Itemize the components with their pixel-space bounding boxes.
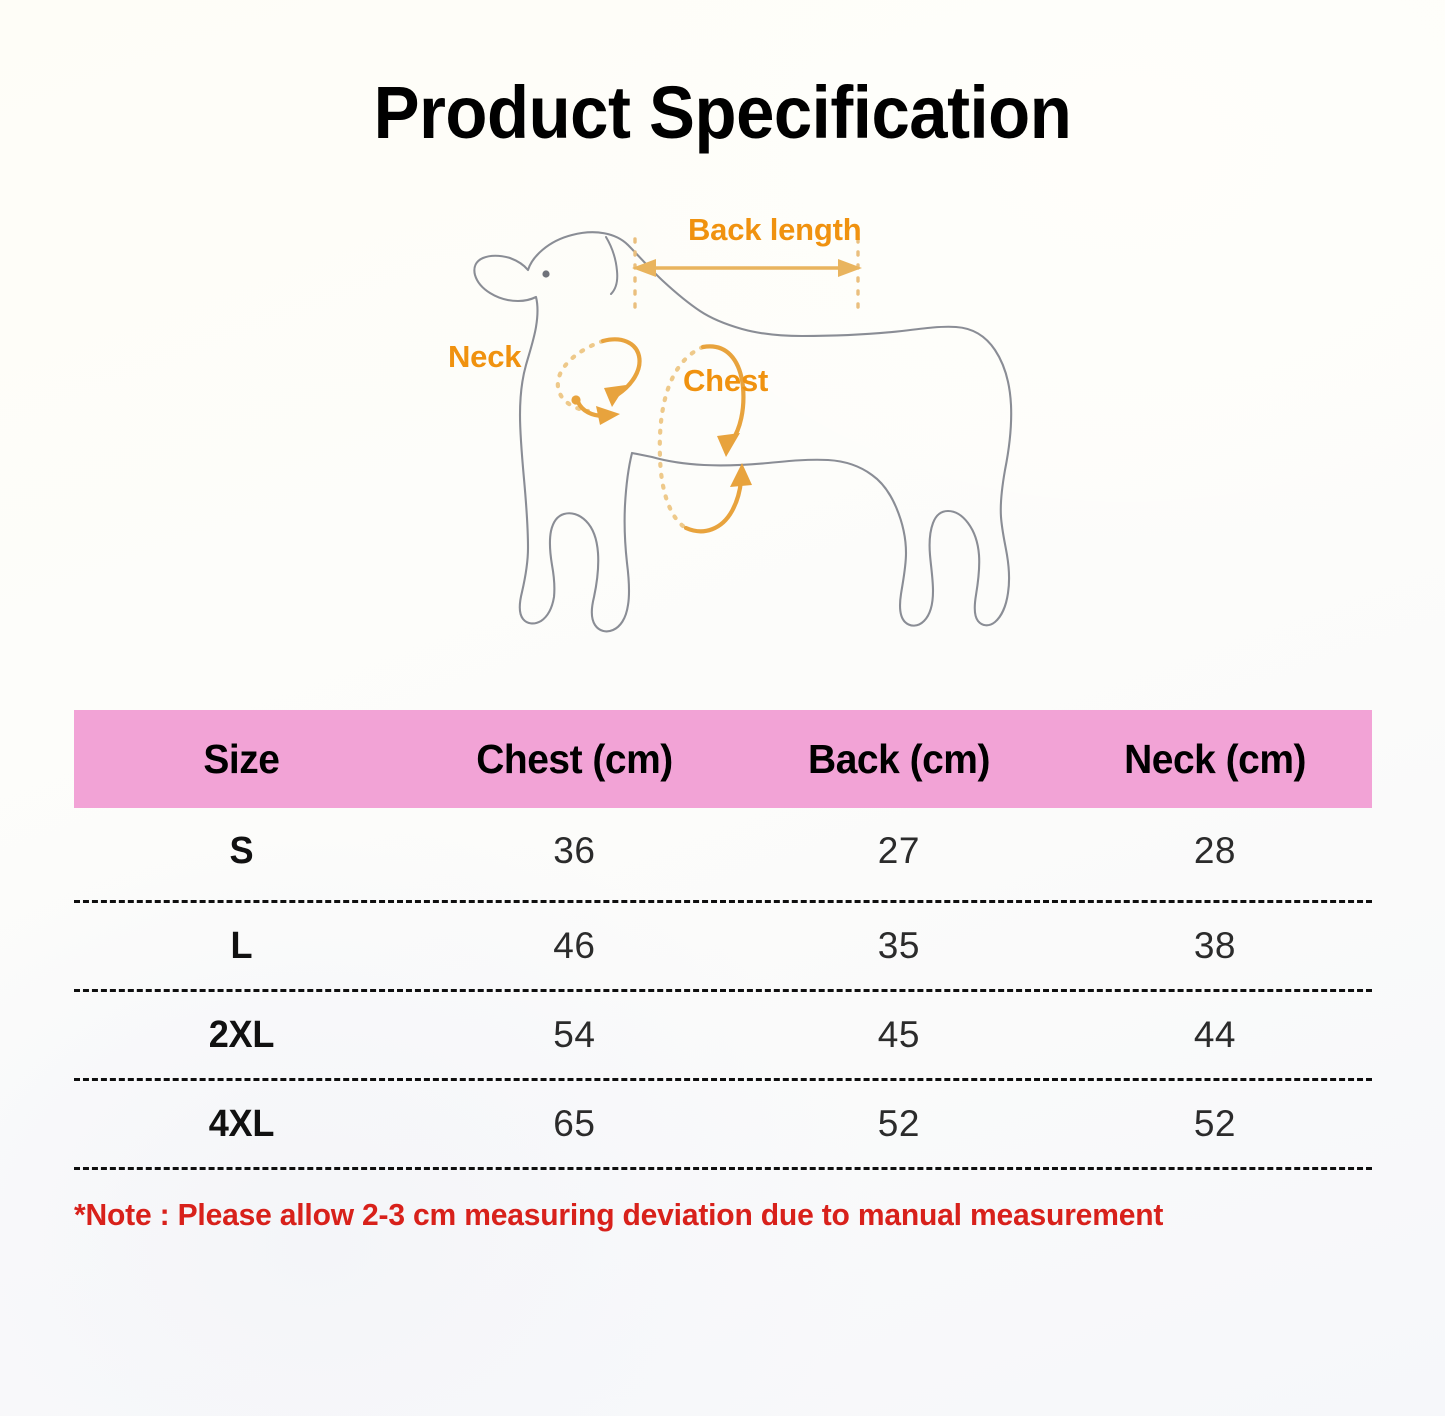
column-header-neck: Neck (cm) — [1066, 736, 1364, 783]
cell-back: 45 — [740, 1014, 1058, 1056]
column-header-chest: Chest (cm) — [417, 736, 731, 783]
cell-neck: 38 — [1058, 925, 1372, 967]
neck-measure — [558, 339, 640, 425]
cell-chest: 65 — [409, 1103, 740, 1145]
cell-chest: 36 — [409, 830, 740, 872]
table-row: 2XL 54 45 44 — [74, 992, 1372, 1078]
cell-neck: 52 — [1058, 1103, 1372, 1145]
cell-chest: 54 — [409, 1014, 740, 1056]
chest-label: Chest — [683, 363, 768, 398]
cell-back: 35 — [740, 925, 1058, 967]
column-header-size: Size — [82, 736, 400, 783]
table-row: S 36 27 28 — [74, 808, 1372, 894]
table-row: 4XL 65 52 52 — [74, 1081, 1372, 1167]
cell-neck: 28 — [1058, 830, 1372, 872]
table-header-row: Size Chest (cm) Back (cm) Neck (cm) — [74, 710, 1372, 808]
dog-silhouette-icon — [474, 232, 1011, 631]
cell-size: 4XL — [82, 1103, 400, 1146]
neck-label: Neck — [448, 339, 522, 374]
back-length-measure — [632, 239, 862, 313]
cell-back: 52 — [740, 1103, 1058, 1145]
cell-size: L — [82, 925, 400, 968]
dog-measurement-diagram: Back length Neck Chest — [420, 195, 1020, 645]
cell-back: 27 — [740, 830, 1058, 872]
back-length-label: Back length — [688, 212, 862, 247]
cell-size: 2XL — [82, 1014, 400, 1057]
table-row: L 46 35 38 — [74, 903, 1372, 989]
size-chart-table: Size Chest (cm) Back (cm) Neck (cm) S 36… — [74, 710, 1372, 1170]
cell-chest: 46 — [409, 925, 740, 967]
page-title: Product Specification — [51, 76, 1395, 150]
dog-eye-icon — [542, 270, 549, 277]
cell-size: S — [82, 830, 400, 873]
product-specification-page: Product Specification — [0, 0, 1445, 1416]
measurement-note: *Note : Please allow 2-3 cm measuring de… — [74, 1198, 1364, 1233]
table-bottom-divider — [74, 1167, 1372, 1170]
cell-neck: 44 — [1058, 1014, 1372, 1056]
column-header-back: Back (cm) — [748, 736, 1050, 783]
